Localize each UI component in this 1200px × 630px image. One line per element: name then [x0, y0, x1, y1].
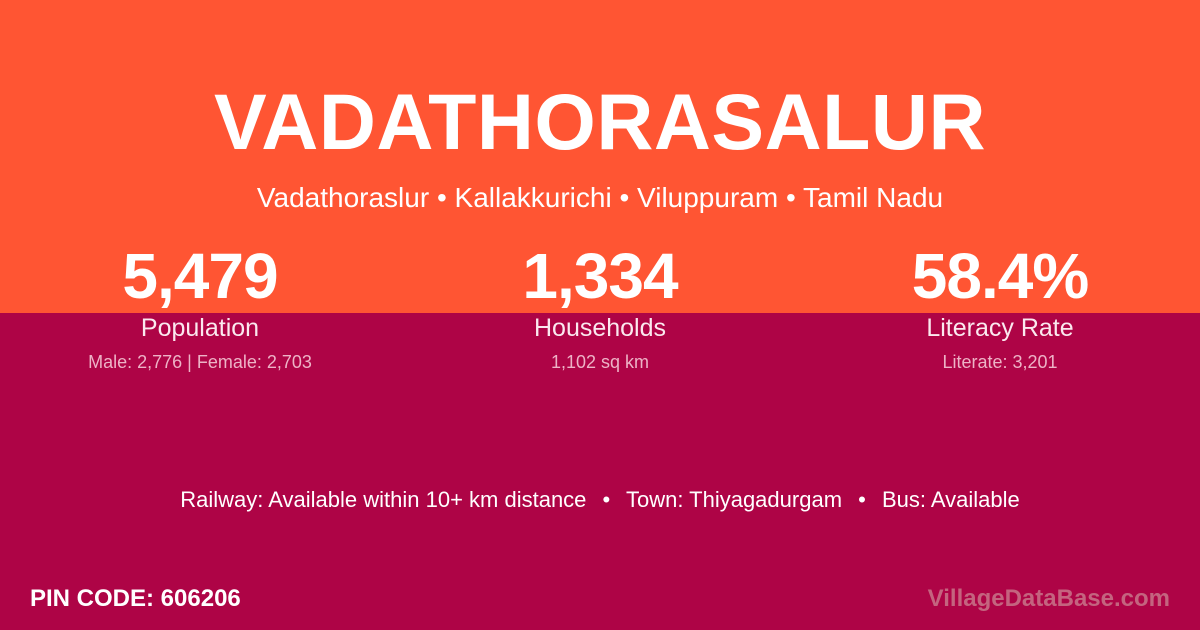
pin-code: PIN CODE: 606206: [30, 584, 241, 614]
literacy-count: Literate: 3,201: [800, 351, 1200, 373]
households-value: 1,334: [400, 240, 800, 312]
households-area: 1,102 sq km: [400, 351, 800, 373]
amenity-separator-2: •: [848, 486, 876, 514]
stat-literacy: 58.4% Literacy Rate Literate: 3,201: [800, 240, 1200, 373]
amenity-bus: Bus: Available: [882, 487, 1020, 512]
footer: PIN CODE: 606206 VillageDataBase.com: [0, 568, 1200, 630]
brand-watermark: VillageDataBase.com: [928, 584, 1170, 614]
population-value: 5,479: [0, 240, 400, 312]
amenities-line: Railway: Available within 10+ km distanc…: [0, 486, 1200, 514]
page-title: VADATHORASALUR: [0, 82, 1200, 161]
stat-population: 5,479 Population Male: 2,776 | Female: 2…: [0, 240, 400, 373]
population-label: Population: [0, 313, 400, 343]
amenity-railway: Railway: Available within 10+ km distanc…: [180, 487, 586, 512]
stat-households: 1,334 Households 1,102 sq km: [400, 240, 800, 373]
literacy-value: 58.4%: [800, 240, 1200, 312]
village-info-card: VADATHORASALUR Vadathoraslur • Kallakkur…: [0, 0, 1200, 630]
amenity-separator-1: •: [593, 486, 621, 514]
stats-row: 5,479 Population Male: 2,776 | Female: 2…: [0, 240, 1200, 373]
literacy-label: Literacy Rate: [800, 313, 1200, 343]
breadcrumb: Vadathoraslur • Kallakkurichi • Viluppur…: [0, 183, 1200, 214]
population-breakdown: Male: 2,776 | Female: 2,703: [0, 351, 400, 373]
amenity-town: Town: Thiyagadurgam: [626, 487, 842, 512]
households-label: Households: [400, 313, 800, 343]
